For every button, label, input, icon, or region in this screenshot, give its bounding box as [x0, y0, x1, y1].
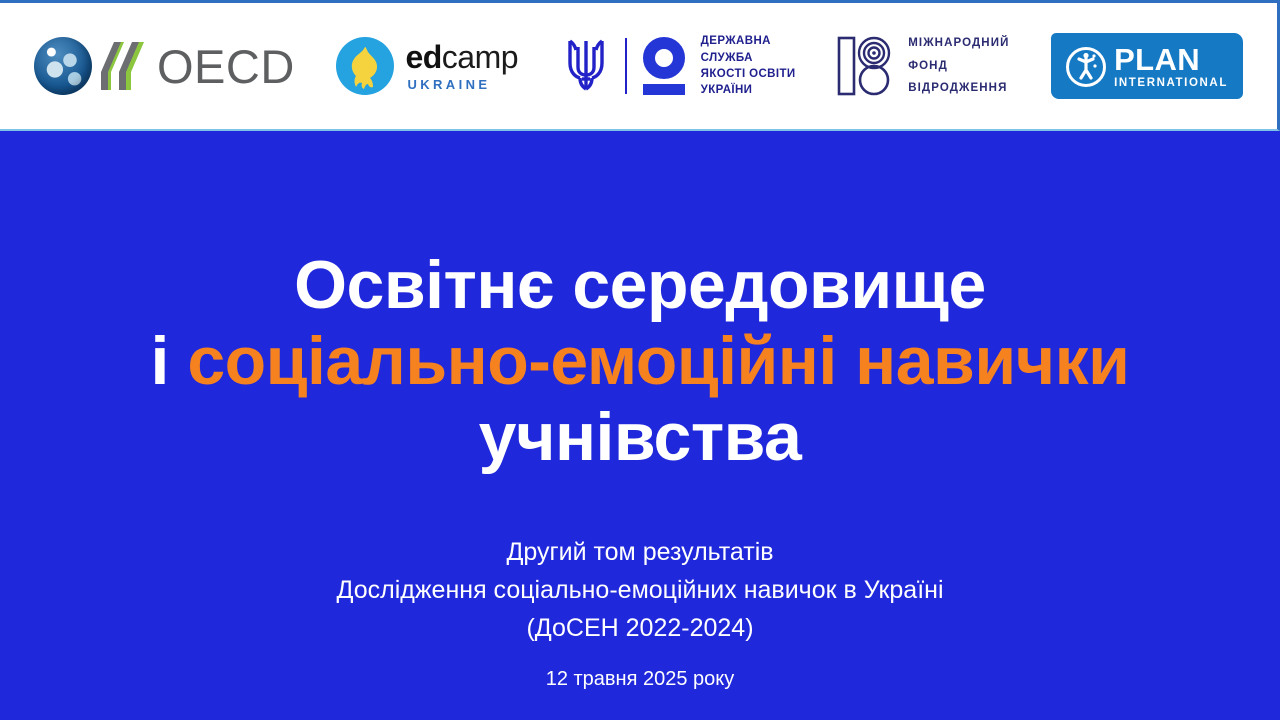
oecd-chevrons-icon	[100, 38, 146, 94]
slide-date: 12 травня 2025 року	[0, 668, 1280, 691]
title-line-2-prefix: і	[151, 323, 188, 399]
oecd-wordmark: OECD	[157, 43, 295, 90]
globe-icon	[34, 37, 92, 95]
plan-wordmark: PLAN	[1114, 44, 1228, 75]
irf-line-1: МІЖНАРОДНИЙ	[908, 32, 1009, 54]
logo-plan-international: PLAN INTERNATIONAL	[1051, 33, 1243, 100]
slide-title: Освітнє середовище і соціально-емоційні …	[0, 247, 1280, 475]
sqe-line-3: ЯКОСТІ ОСВІТИ	[701, 66, 796, 82]
sqe-o-mark-icon	[643, 37, 689, 95]
ukraine-trident-icon	[560, 33, 612, 100]
plan-subtitle: INTERNATIONAL	[1114, 78, 1228, 90]
logo-oecd: OECD	[34, 37, 295, 95]
edcamp-flame-icon	[336, 37, 394, 95]
partner-logo-band: OECD edcamp UKRAINE	[0, 0, 1280, 131]
logo-edcamp-ukraine: edcamp UKRAINE	[336, 37, 518, 95]
irf-line-3: ВІДРОДЖЕННЯ	[908, 77, 1009, 99]
edcamp-wordmark: edcamp	[405, 41, 518, 73]
subtitle-line-3: (ДоСЕН 2022-2024)	[0, 609, 1280, 647]
renaissance-mark-icon	[837, 35, 895, 97]
edcamp-subtitle: UKRAINE	[405, 78, 518, 91]
title-line-3: учнівства	[0, 399, 1280, 475]
title-line-2: і соціально-емоційні навички	[0, 323, 1280, 399]
title-line-1: Освітнє середовище	[0, 247, 1280, 323]
sqe-name-lines: ДЕРЖАВНА СЛУЖБА ЯКОСТІ ОСВІТИ УКРАЇНИ	[701, 33, 796, 98]
sqe-line-2: СЛУЖБА	[701, 50, 796, 66]
subtitle-line-1: Другий том результатів	[0, 533, 1280, 571]
slide-subtitle: Другий том результатів Дослідження соціа…	[0, 533, 1280, 647]
sqe-line-4: УКРАЇНИ	[701, 82, 796, 98]
title-line-2-highlight: соціально-емоційні навички	[187, 323, 1129, 399]
irf-name-lines: МІЖНАРОДНИЙ ФОНД ВІДРОДЖЕННЯ	[908, 32, 1009, 99]
plan-child-icon	[1066, 47, 1106, 87]
sqe-line-1: ДЕРЖАВНА	[701, 33, 796, 49]
subtitle-line-2: Дослідження соціально-емоційних навичок …	[0, 571, 1280, 609]
logo-state-education-quality-service: ДЕРЖАВНА СЛУЖБА ЯКОСТІ ОСВІТИ УКРАЇНИ	[560, 33, 796, 100]
irf-line-2: ФОНД	[908, 55, 1009, 77]
logo-international-renaissance-foundation: МІЖНАРОДНИЙ ФОНД ВІДРОДЖЕННЯ	[837, 32, 1009, 99]
logo-divider	[625, 38, 627, 94]
